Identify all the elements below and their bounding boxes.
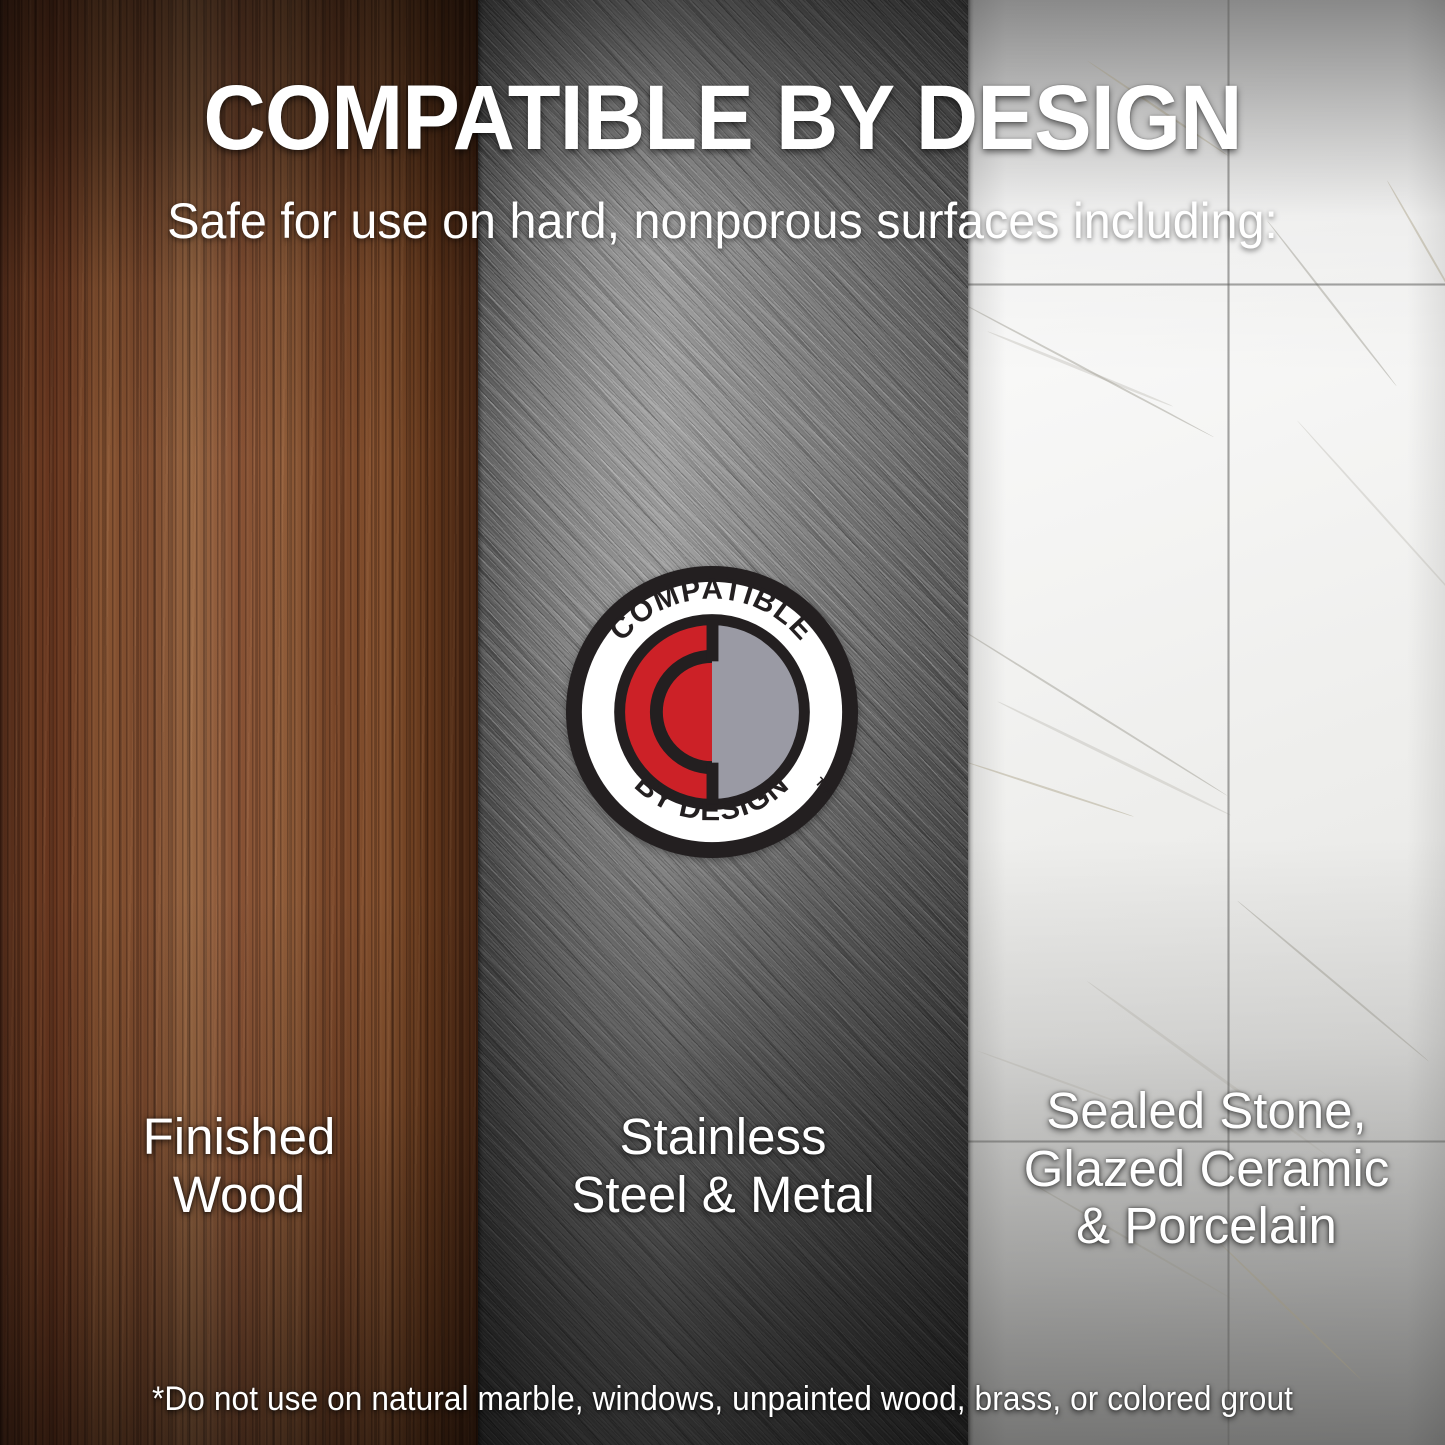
compatibility-infographic: COMPATIBLE BY DESIGN Safe for use on har…	[0, 0, 1445, 1445]
caption-stainless-steel: Stainless Steel & Metal	[478, 1108, 968, 1223]
caption-line: Steel & Metal	[478, 1166, 968, 1224]
tile-grout-line-horizontal	[968, 283, 1445, 286]
marble-vein	[997, 700, 1232, 817]
caption-line: Stainless	[478, 1108, 968, 1166]
marble-vein	[968, 760, 1134, 818]
logo-divider-upper	[707, 620, 719, 662]
marble-vein	[968, 620, 1228, 797]
caption-line: Finished	[0, 1108, 478, 1166]
caption-line: & Porcelain	[968, 1197, 1445, 1255]
caption-finished-wood: Finished Wood	[0, 1108, 478, 1223]
marble-vein	[1217, 1240, 1362, 1380]
caption-line: Sealed Stone,	[968, 1082, 1445, 1140]
page-subtitle: Safe for use on hard, nonporous surfaces…	[22, 196, 1424, 246]
marble-vein	[1237, 900, 1430, 1062]
marble-vein	[1297, 420, 1445, 615]
marble-vein	[987, 330, 1174, 408]
compatible-by-design-logo: COMPATIBLE BY DESIGN TM	[563, 563, 861, 861]
page-title: COMPATIBLE BY DESIGN	[43, 72, 1401, 164]
caption-line: Wood	[0, 1166, 478, 1224]
caption-line: Glazed Ceramic	[968, 1140, 1445, 1198]
caption-sealed-stone: Sealed Stone, Glazed Ceramic & Porcelain	[968, 1082, 1445, 1255]
disclaimer-footnote: *Do not use on natural marble, windows, …	[51, 1380, 1395, 1419]
marble-vein	[968, 300, 1214, 438]
